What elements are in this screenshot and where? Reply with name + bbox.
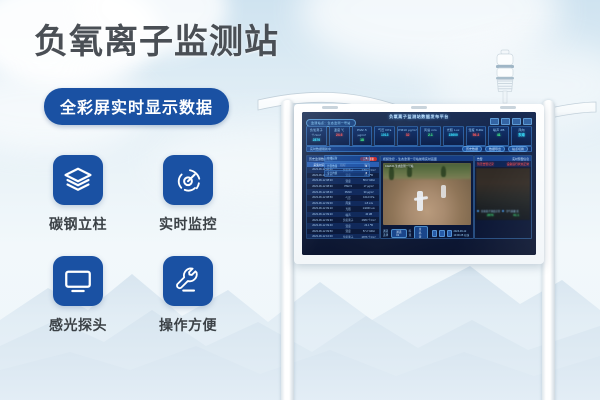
feature-tile <box>53 155 103 205</box>
table-cell: PM10 <box>338 191 359 194</box>
sensor-card[interactable]: 湿度 %RH56.3 <box>466 126 487 146</box>
sensor-card-value: 18 <box>353 138 372 143</box>
monitor-icon <box>63 266 93 296</box>
video-title: 视频监控 - 生态监测一号站前场实时画面 <box>383 157 437 161</box>
table-cell: 2023-06-12 09:40 <box>307 224 338 227</box>
table-cell: 光照 <box>338 207 359 211</box>
chart-icon[interactable] <box>501 118 510 125</box>
stream-select[interactable]: 主码流 <box>414 226 429 239</box>
table-row[interactable]: 2023-06-12 10:00负氧离子2876 个/cm³ <box>307 234 379 239</box>
table-cell: 1012 hPa <box>358 196 379 199</box>
strip-button[interactable]: 历史数据 <box>462 146 482 152</box>
feed-tree <box>389 166 394 180</box>
feed-figure <box>441 185 446 198</box>
sensor-card[interactable]: 噪声 dB41 <box>488 126 509 146</box>
sensor-card-value: 24.6 <box>330 133 349 138</box>
feature-row: 感光探头 操作方便 <box>44 256 234 335</box>
sensor-card-value: 1013 <box>375 133 394 138</box>
sensor-card-value: 2876 <box>307 138 326 143</box>
camera-status: 负氧离子浓度正常 空气质量 优 2876 41.1 <box>477 209 529 219</box>
mini-stat: 今日均值2 <box>324 170 370 177</box>
alarm-icon[interactable] <box>512 118 521 125</box>
sensor-card-row: 负氧离子 个/cm³2876温度 ℃24.6PM2.5 μg/m³18气压 hP… <box>306 126 532 146</box>
table-cell: 1.8 m/s <box>358 202 379 205</box>
settings-icon[interactable] <box>523 118 532 125</box>
video-header: 视频监控 - 生态监测一号站前场实时画面 <box>381 156 473 161</box>
table-cell: 2023-06-12 09:10 <box>307 207 338 210</box>
stream-label: 码流 <box>409 229 412 237</box>
table-cell: 30 μg/m³ <box>358 191 379 194</box>
table-cell: 2023-06-12 09:30 <box>307 219 338 222</box>
table-cell: 2680 个/cm³ <box>358 218 379 222</box>
sensor-card-name: PM2.5 μg/m³ <box>353 128 372 138</box>
feature-item-steel-post[interactable]: 碳钢立柱 <box>44 155 112 234</box>
sensor-card-value: 15600 <box>444 133 463 138</box>
alert-row: 暂无告警记录 设备运行状态正常 <box>475 161 531 167</box>
table-cell: 2023-06-12 08:30 <box>307 185 338 188</box>
alert-header-right: 实时预警信息 <box>512 157 529 161</box>
table-cell: 58.0 %RH <box>358 179 379 182</box>
mini-stat-key: 今日均值 <box>327 171 337 175</box>
mini-stat-value: 2 <box>365 171 367 175</box>
alert-header-left: 告警 <box>477 157 483 161</box>
video-panel[interactable]: 视频监控 - 生态监测一号站前场实时画面 CAM-01 生态监测一号站 <box>380 155 474 239</box>
table-cell: 40 dB <box>358 213 379 216</box>
strip-label: 实时数据刷新中 <box>310 147 331 151</box>
reading-value: 2876 <box>487 213 494 217</box>
video-timestamp: 2023-06-12 10:00:25 在线 <box>454 230 471 237</box>
table-cell: 57.2 %RH <box>358 230 379 233</box>
dashboard-screen[interactable]: 负氧离子监测站数据发布平台 监测站点：生态监测一号站 负氧离子 个/cm³287… <box>302 112 536 255</box>
sensor-card[interactable]: PM10 μg/m³32 <box>397 126 418 146</box>
feature-item-live-monitoring[interactable]: 实时监控 <box>154 155 222 234</box>
dashboard-title: 负氧离子监测站数据发布平台 <box>389 114 449 120</box>
board-mount <box>322 106 338 109</box>
camera-readings: 2876 41.1 <box>477 213 529 217</box>
feature-label: 碳钢立柱 <box>49 214 107 234</box>
table-cell: 2023-06-12 08:50 <box>307 196 338 199</box>
table-cell: 2876 个/cm³ <box>358 235 379 239</box>
wrench-icon <box>173 266 203 296</box>
table-cell: 气压 <box>338 196 359 200</box>
feature-item-easy-operation[interactable]: 操作方便 <box>154 256 222 335</box>
dashboard-toolbar[interactable] <box>490 118 532 125</box>
video-overlay-text: CAM-01 生态监测一号站 <box>385 164 413 168</box>
secondary-camera-view: 负氧离子浓度正常 空气质量 优 2876 41.1 <box>476 168 530 220</box>
mini-stat-key: 告警数量 <box>327 164 337 168</box>
sensor-card[interactable]: 负氧离子 个/cm³2876 <box>306 126 327 146</box>
table-cell: 湿度 <box>338 229 359 233</box>
feature-tile <box>163 256 213 306</box>
video-controls[interactable]: 通道选择 通道 01 码流 主码流 2023-06-12 10:00:25 在线 <box>383 230 471 236</box>
sensor-card[interactable]: 风速 m/s2.1 <box>420 126 441 146</box>
table-cell: 负氧离子 <box>338 235 359 239</box>
mini-stat: 在线设备1 <box>324 155 370 162</box>
table-cell: 负氧离子 <box>338 218 359 222</box>
sensor-card-value: 32 <box>398 133 417 138</box>
sensor-card-name: 负氧离子 个/cm³ <box>307 128 326 138</box>
sensor-card[interactable]: 光照 Lux15600 <box>443 126 464 146</box>
table-cell: 14200 Lux <box>358 207 379 210</box>
alert-panel[interactable]: 告警 实时预警信息 暂无告警记录 设备运行状态正常 负氧离子浓度正常 <box>474 155 532 239</box>
sensor-card-value: 56.3 <box>467 133 486 138</box>
alert-text-left: 暂无告警记录 <box>477 162 494 166</box>
board-mount <box>411 106 427 109</box>
layers-icon <box>63 165 93 195</box>
snapshot-button[interactable] <box>447 230 452 237</box>
board-mount <box>500 106 516 109</box>
support-post <box>281 100 294 400</box>
channel-label: 通道选择 <box>383 229 389 237</box>
strip-buttons[interactable]: 历史数据数据导出站点切换 <box>462 146 528 152</box>
channel-select[interactable]: 通道 01 <box>391 229 406 238</box>
mini-stat: 告警数量0 <box>324 163 370 170</box>
table-body: 2023-06-12 08:00负氧离子2450 个/cm³2023-06-12… <box>307 167 379 239</box>
table-cell: 2023-06-12 10:00 <box>307 235 338 238</box>
feature-item-light-sensor[interactable]: 感光探头 <box>44 256 112 335</box>
sensor-card-value: 41 <box>489 133 508 138</box>
mini-stats: 在线设备1告警数量0今日均值2 <box>324 155 370 178</box>
table-cell: 风速 <box>338 201 359 205</box>
feed-tree <box>441 166 446 177</box>
strip-button[interactable]: 数据导出 <box>485 146 505 152</box>
status-dot-icon <box>502 210 504 212</box>
led-display-board: 负氧离子监测站数据发布平台 监测站点：生态监测一号站 负氧离子 个/cm³287… <box>294 104 544 264</box>
status-dot-icon <box>477 210 479 212</box>
monitoring-station: 负氧离子监测站数据发布平台 监测站点：生态监测一号站 负氧离子 个/cm³287… <box>250 48 600 400</box>
feature-tile <box>163 155 213 205</box>
table-cell: 湿度 <box>338 179 359 183</box>
table-cell: 24.1 ℃ <box>358 224 379 227</box>
banner-stage: 负氧离子监测站 全彩屏实时显示数据 碳钢立柱 <box>0 0 600 400</box>
sensor-card[interactable]: 气压 hPa1013 <box>374 126 395 146</box>
table-cell: 2023-06-12 09:50 <box>307 230 338 233</box>
video-feed: CAM-01 生态监测一号站 <box>383 163 471 225</box>
feature-tile <box>53 256 103 306</box>
feature-grid: 碳钢立柱 实时监控 <box>44 155 234 357</box>
table-cell: 温度 <box>338 224 359 228</box>
table-cell: 2023-06-12 09:20 <box>307 213 338 216</box>
mini-stat-key: 在线设备 <box>327 156 337 160</box>
alert-text-right: 设备运行状态正常 <box>507 162 529 166</box>
subtitle-badge: 全彩屏实时显示数据 <box>44 88 229 125</box>
feature-label: 操作方便 <box>159 315 217 335</box>
dashboard-strip: 实时数据刷新中 历史数据数据导出站点切换 <box>306 146 532 152</box>
radar-icon <box>173 165 203 195</box>
table-cell: 2023-06-12 09:00 <box>307 202 338 205</box>
mini-stat-value: 1 <box>365 156 367 160</box>
feature-row: 碳钢立柱 实时监控 <box>44 155 234 234</box>
mini-stat-value: 0 <box>365 164 367 168</box>
feature-label: 感光探头 <box>49 315 107 335</box>
table-cell: PM2.5 <box>338 185 359 188</box>
feature-label: 实时监控 <box>159 214 217 234</box>
reading-value: 41.1 <box>513 213 519 217</box>
table-cell: 噪声 <box>338 213 359 217</box>
table-cell: 2023-06-12 08:40 <box>307 191 338 194</box>
table-cell: 2023-06-12 08:20 <box>307 179 338 182</box>
sensor-card-value: 东南 <box>512 133 531 138</box>
sensor-card[interactable]: 温度 ℃24.6 <box>329 126 350 146</box>
feed-figure <box>417 191 423 211</box>
page-title: 负氧离子监测站 <box>34 22 279 62</box>
sensor-card-value: 2.1 <box>421 133 440 138</box>
strip-button[interactable]: 站点切换 <box>508 146 528 152</box>
play-button[interactable] <box>432 230 437 237</box>
grid-icon[interactable] <box>490 118 499 125</box>
pause-button[interactable] <box>439 230 444 237</box>
sensor-card[interactable]: 风向东南 <box>511 126 532 146</box>
table-cell: 17 μg/m³ <box>358 185 379 188</box>
sensor-card[interactable]: PM2.5 μg/m³18 <box>352 126 373 146</box>
